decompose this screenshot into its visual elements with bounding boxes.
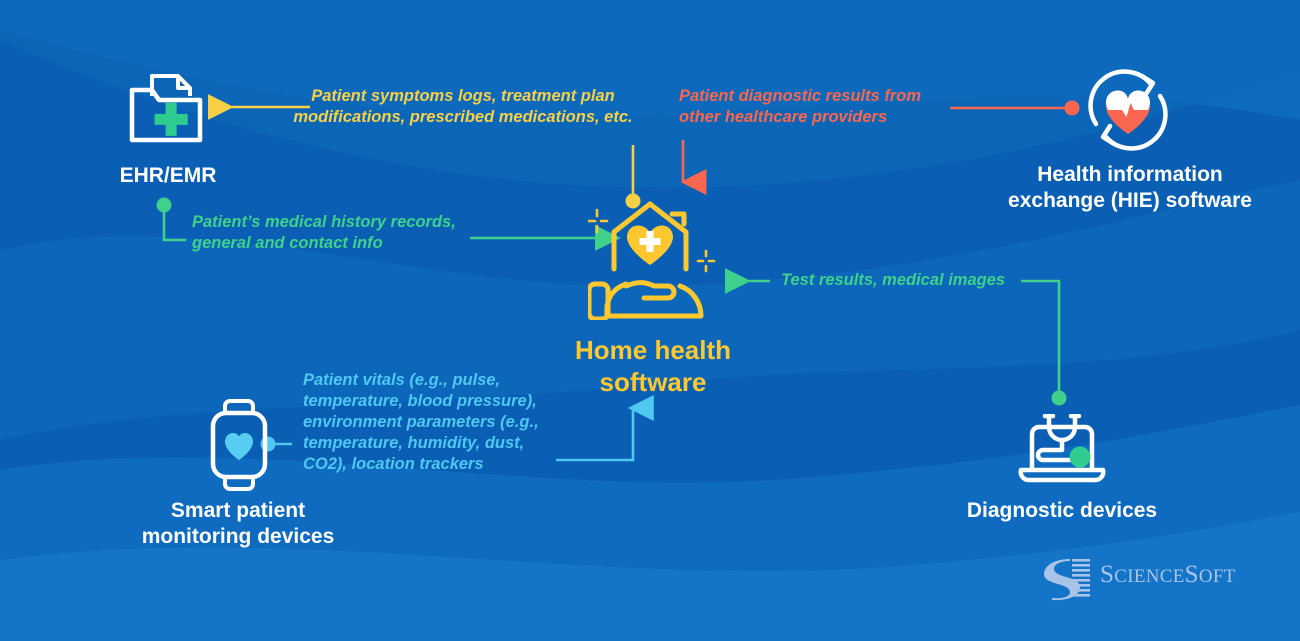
node-smart-monitoring[interactable] <box>203 398 275 492</box>
medical-folder-icon <box>126 68 212 148</box>
center-title: Home health software <box>527 334 779 398</box>
node-center[interactable] <box>588 196 718 320</box>
flow-label-diagnostic-to-center: Test results, medical images <box>781 270 1021 291</box>
flow-label-monitoring-to-center: Patient vitals (e.g., pulse, temperature… <box>303 370 553 475</box>
node-label-diagnostic: Diagnostic devices <box>940 498 1184 524</box>
flow-label-ehr-to-center: Patient’s medical history records, gener… <box>192 212 478 254</box>
node-label-smart-monitoring: Smart patient monitoring devices <box>118 498 358 550</box>
sciencesoft-logo[interactable]: SCIENCESOFT <box>1040 556 1260 602</box>
flow-label-center-to-ehr: Patient symptoms logs, treatment plan mo… <box>283 86 643 128</box>
node-hie[interactable] <box>1078 62 1178 158</box>
node-ehr[interactable] <box>126 68 212 148</box>
node-label-ehr: EHR/EMR <box>58 163 278 189</box>
laptop-stethoscope-icon <box>1016 414 1108 486</box>
smartwatch-heart-icon <box>203 398 275 492</box>
sparkle-right-icon <box>698 251 714 271</box>
node-label-hie: Health information exchange (HIE) softwa… <box>970 162 1290 214</box>
sparkle-left-icon <box>589 210 607 232</box>
heart-pulse-exchange-icon <box>1078 62 1178 158</box>
sciencesoft-wordmark: SCIENCESOFT <box>1100 561 1236 589</box>
node-diagnostic[interactable] <box>1016 414 1108 486</box>
infographic-canvas: EHR/EMR Health information exchange (HIE… <box>0 0 1300 641</box>
wire-diagnostic-to-center <box>730 281 1067 406</box>
sciencesoft-s-mark-icon <box>1040 557 1092 601</box>
house-in-hand-with-heart-icon <box>588 196 718 320</box>
flow-label-hie-to-center: Patient diagnostic results from other he… <box>679 86 955 128</box>
